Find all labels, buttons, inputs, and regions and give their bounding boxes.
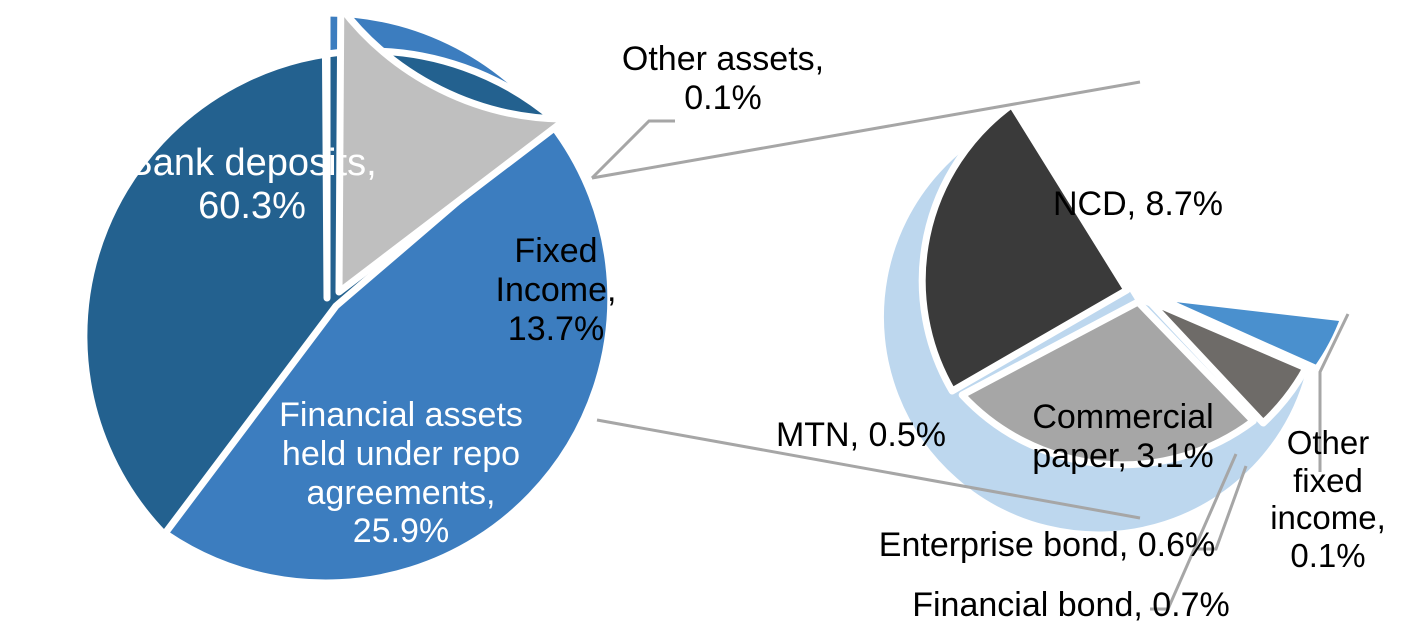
label-repo-assets: Financial assets held under repo agreeme… [254,396,548,551]
label-enterprise-bond: Enterprise bond, 0.6% [872,526,1222,565]
label-bank-deposits: Bank deposits, 60.3% [122,142,382,229]
label-ncd: NCD, 8.7% [1030,185,1246,224]
label-other-assets: Other assets, 0.1% [604,40,842,118]
pie-chart-figure: Bank deposits, 60.3% Fixed Income, 13.7%… [0,0,1404,644]
label-fixed-income: Fixed Income, 13.7% [474,232,638,348]
label-mtn: MTN, 0.5% [766,416,956,455]
label-financial-bond: Financial bond, 0.7% [900,586,1242,625]
label-commercial-paper: Commercial paper, 3.1% [1012,398,1234,476]
label-other-fixed-income: Other fixed income, 0.1% [1258,424,1398,574]
